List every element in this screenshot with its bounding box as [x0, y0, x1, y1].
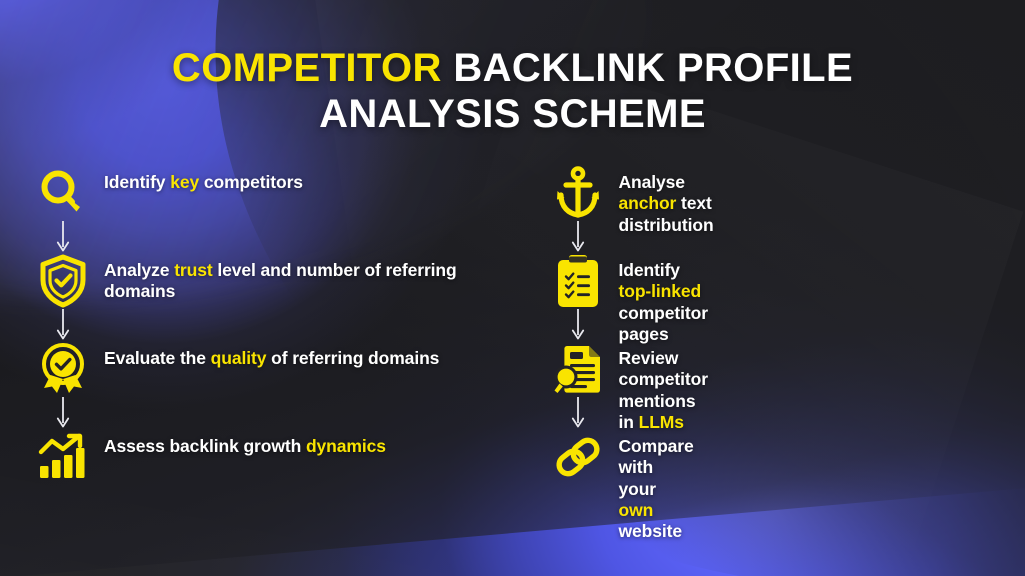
arrow-down-icon — [549, 306, 607, 344]
title-accent-word: COMPETITOR — [172, 46, 442, 90]
page-title: COMPETITOR BACKLINK PROFILE ANALYSIS SCH… — [0, 46, 1025, 137]
chain-link-icon — [549, 432, 607, 482]
clipboard-checklist-icon — [549, 256, 607, 306]
title-line-one-rest: BACKLINK PROFILE — [442, 46, 853, 90]
step-text-post: competitor pages — [619, 303, 708, 344]
step-label: Review competitor mentions in LLMs — [607, 344, 708, 433]
step-text-post: website — [619, 521, 683, 541]
step-text-highlight: anchor — [619, 193, 677, 213]
anchor-icon — [549, 168, 607, 218]
steps-columns: Identify key competitors — [0, 168, 1025, 482]
step-text-pre: Compare with your — [619, 436, 694, 499]
title-line-two: ANALYSIS SCHEME — [40, 92, 985, 138]
step-text-pre: Analyse — [619, 172, 685, 192]
step-label: Analyse anchor text distribution — [607, 168, 714, 236]
step-label: Identify top-linked competitor pages — [607, 256, 708, 345]
infographic-poster: COMPETITOR BACKLINK PROFILE ANALYSIS SCH… — [0, 0, 1025, 576]
document-search-icon — [549, 344, 607, 394]
step-text-pre: Identify — [619, 260, 680, 280]
poster-content: COMPETITOR BACKLINK PROFILE ANALYSIS SCH… — [0, 0, 1025, 576]
arrow-down-icon — [549, 394, 607, 432]
title-line-one: COMPETITOR BACKLINK PROFILE — [40, 46, 985, 92]
step-text-highlight: LLMs — [639, 412, 684, 432]
right-column: Analyse anchor text distribution — [1, 168, 549, 482]
arrow-down-icon — [549, 218, 607, 256]
step-label: Compare with your own website — [607, 432, 694, 543]
step-text-highlight: own — [619, 500, 654, 520]
step-text-highlight: top-linked — [619, 281, 702, 301]
